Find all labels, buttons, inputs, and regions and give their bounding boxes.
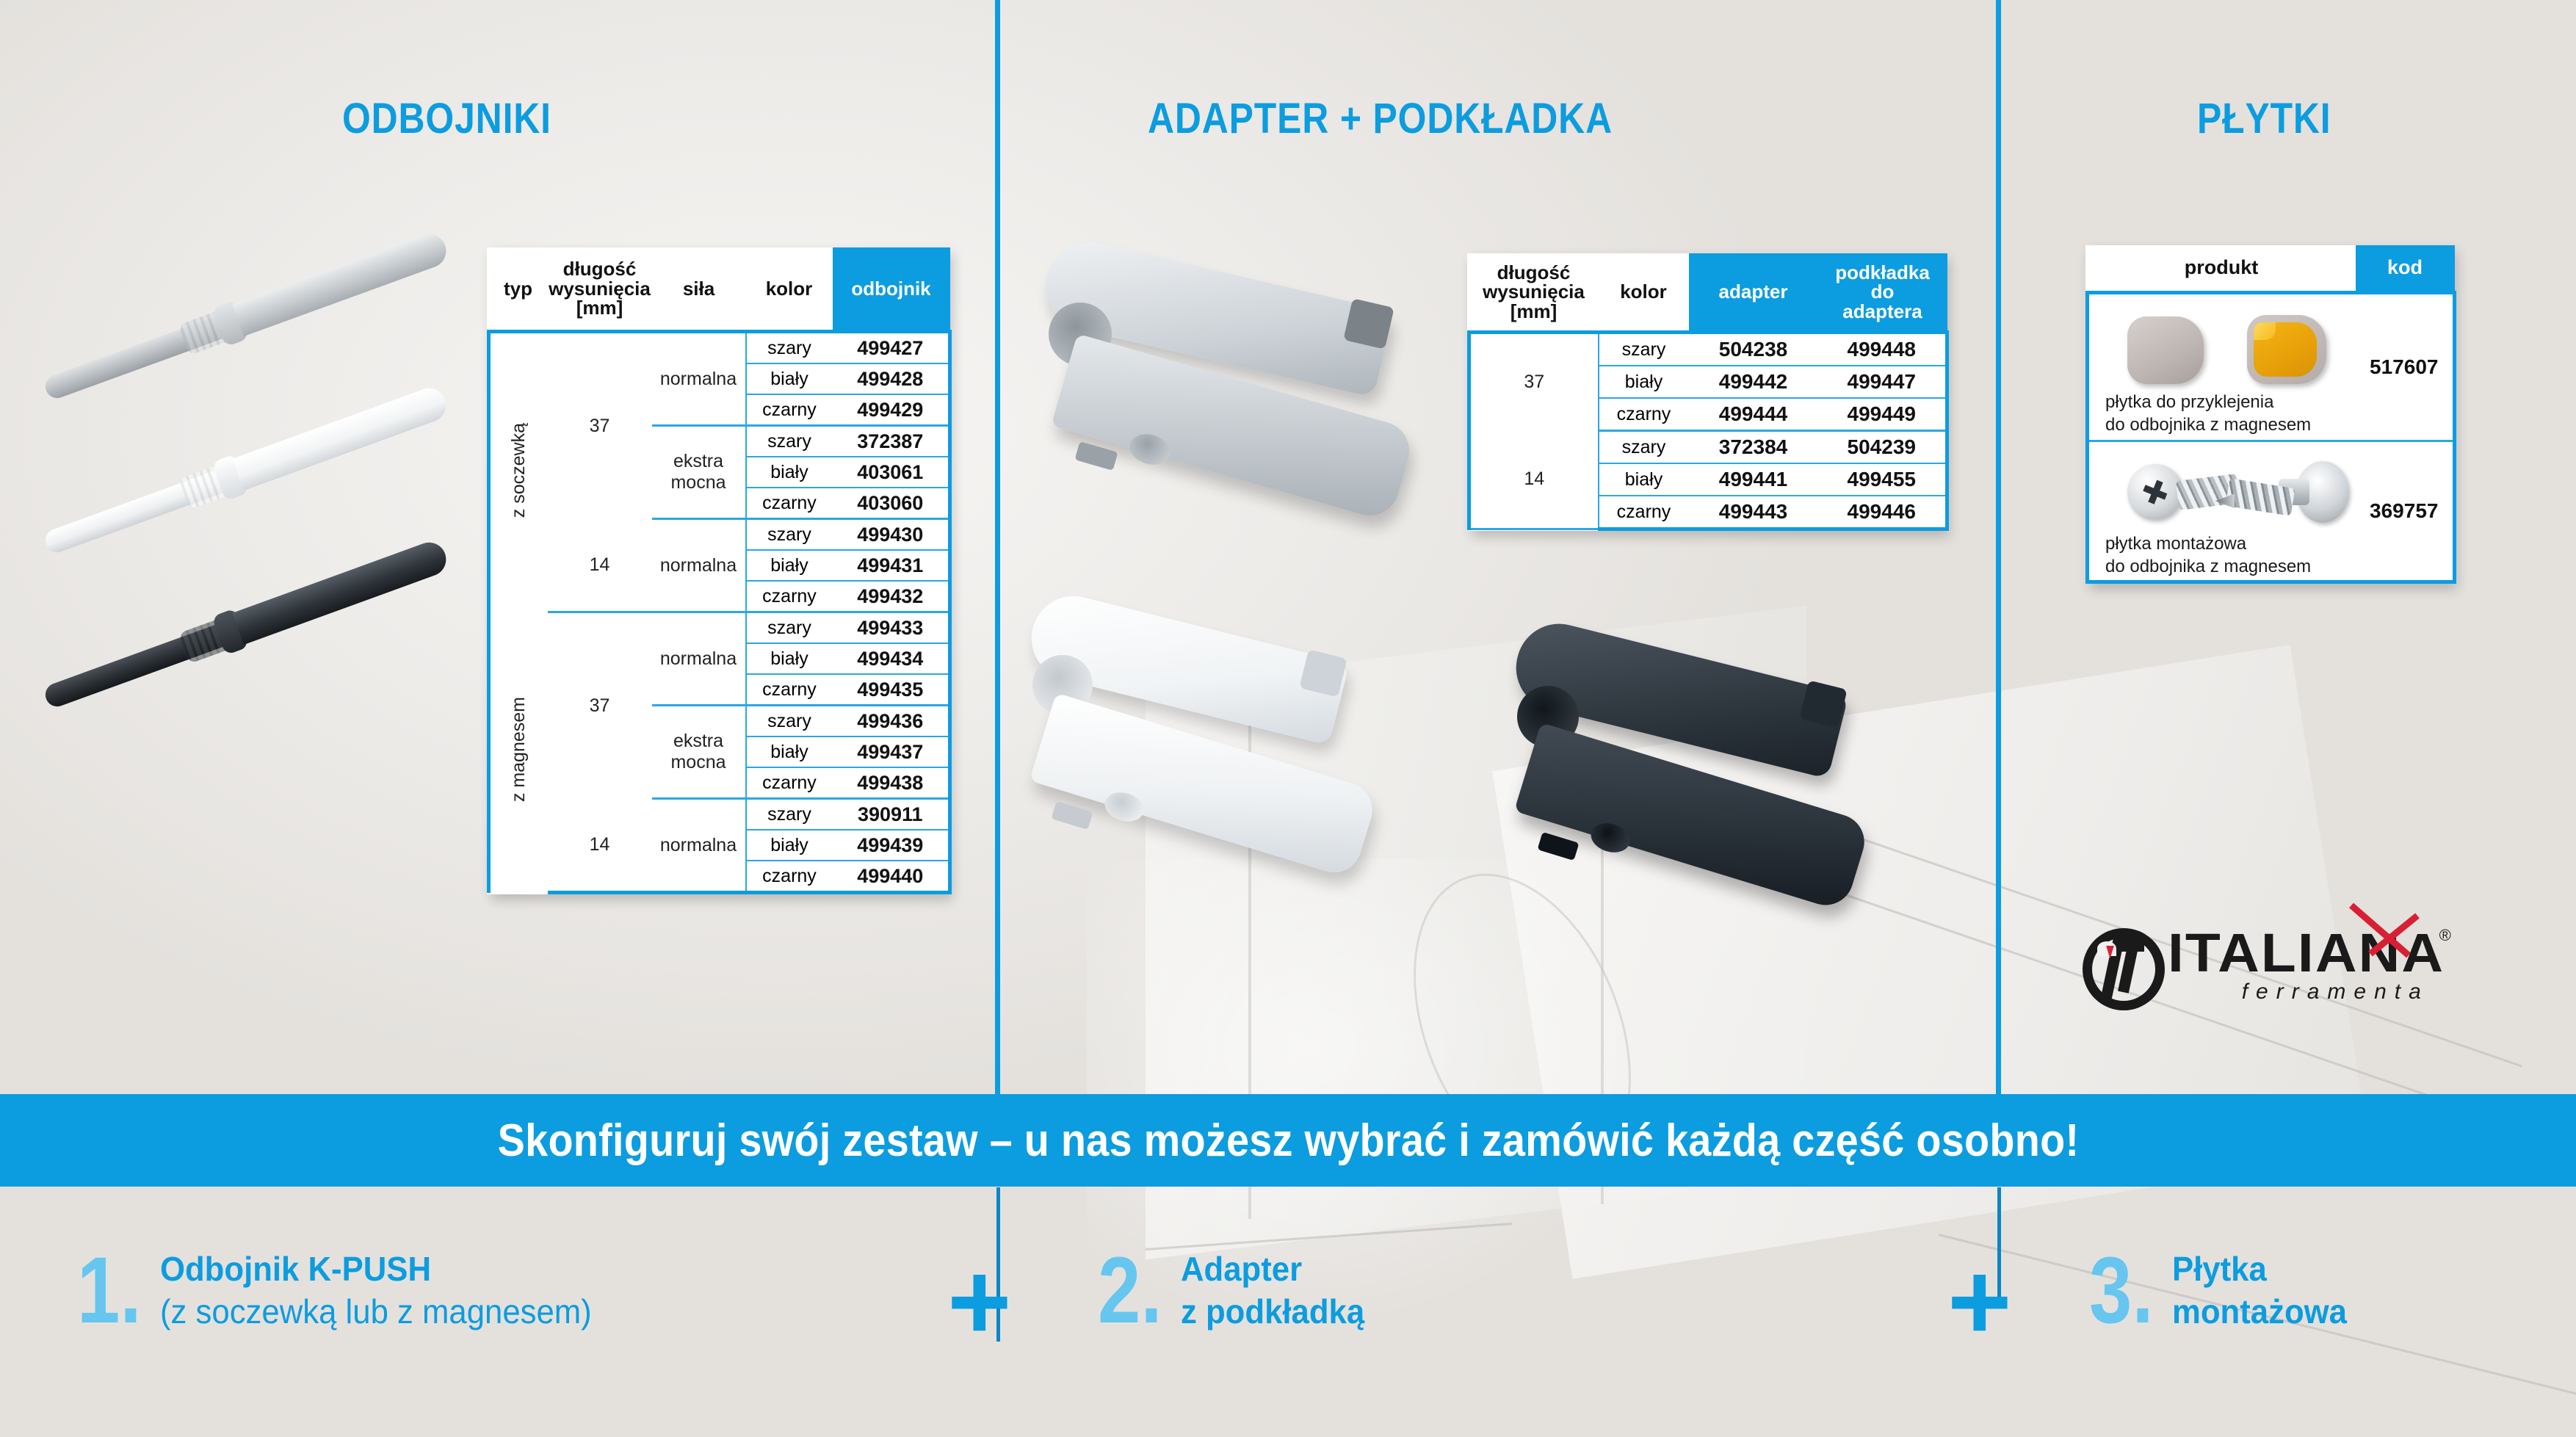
col-adapter: adapter [1689,253,1818,333]
cell-podkladka-kod: 499446 [1818,496,1947,529]
screws-desc-line2: do odbojnika z magnesem [2105,556,2356,579]
cell-kod: 390911 [833,799,950,830]
cell-kod: 499436 [833,706,950,737]
registered-mark: ® [2439,926,2451,945]
cell-kod: 499439 [833,830,950,861]
footer-plus-icon-1: + [947,1263,1012,1340]
step-line1: Odbojnik K-PUSH [160,1248,592,1291]
col-odbojnik: odbojnik [833,247,950,332]
col-dlugosc: długość wysunięcia [mm] [548,247,652,332]
cell-kod: 403060 [833,488,950,519]
force-normalna: normalna [652,519,746,612]
cta-banner-text: Skonfiguruj swój zestaw – u nas możesz w… [497,1115,2079,1167]
col-sila: siła [652,247,746,332]
cell-adapter-kod: 504238 [1689,333,1818,366]
table-row: z soczewką 37 normalna szary 499427 [489,332,950,364]
podkladka-slot-black [1537,832,1579,861]
col-produkt: produkt [2088,245,2356,293]
length-37: 37 [548,612,652,799]
mounting-screws-image [2096,451,2356,529]
table-adapter-card: długość wysunięcia [mm] kolor adapter po… [1467,253,1945,531]
plate-desc-line1: płytka do przyklejenia [2105,391,2356,414]
col-dlugosc-line2: wysunięcia [1469,282,1599,302]
step-text: Płytka montażowa [2172,1248,2356,1333]
cell-kod: 499437 [833,736,950,767]
step-line1: Płytka [2172,1248,2347,1291]
table-header-row: produkt kod [2088,245,2455,293]
odbojnik-product-photo-group [15,264,470,837]
group-type-magnes: z magnesem [489,612,548,893]
cell-kolor: szary [1599,333,1689,366]
adapter-photo-grey [1013,257,1469,602]
col-dlugosc-line1: długość [548,259,652,279]
cell-kolor: szary [746,799,833,830]
cell-kod: 499435 [833,674,950,706]
table-row: z magnesem 37 normalna szary 499433 [489,612,950,644]
step-line2: (z soczewką lub z magnesem) [160,1291,592,1333]
cell-kolor: szary [746,519,833,551]
adapter-photo-black [1483,646,1939,1028]
cell-podkladka-kod: 499447 [1818,366,1947,398]
cell-kolor: biały [746,736,833,767]
col-podkladka-line2: do [1818,282,1947,302]
cell-kod: 499440 [833,861,950,893]
force-ekstra-mocna: ekstra mocna [652,426,746,519]
cell-kolor: czarny [1599,398,1689,431]
table-odbojniki: typ długość wysunięcia [mm] siła kolor o… [487,247,952,894]
logo-wordmark-wrap: ITALIANA ® ferramenta [2168,922,2429,1005]
cell-kod: 499433 [833,612,950,644]
cell-kod: 499427 [833,332,950,364]
cell-kolor: biały [746,363,833,394]
step-text: Adapter z podkładką [1181,1248,1374,1333]
cell-kolor: szary [1599,431,1689,464]
cell-kolor: czarny [746,488,833,519]
section-title-adapter: ADAPTER + PODKŁADKA [1148,94,1613,143]
cell-kod: 517607 [2356,293,2455,441]
podkladka-slot-grey [1074,441,1118,471]
cell-produkt-plate: płytka do przyklejenia do odbojnika z ma… [2088,293,2356,441]
cell-kolor: czarny [746,581,833,612]
force-normalna: normalna [652,799,746,893]
cell-kolor: szary [746,426,833,457]
screws-desc-line1: płytka montażowa [2105,533,2356,556]
force-line1: ekstra [652,451,745,472]
cell-kod: 499438 [833,767,950,799]
force-normalna: normalna [652,332,746,426]
cell-kolor: szary [746,612,833,644]
cell-kolor: biały [746,830,833,861]
cell-kod: 499434 [833,643,950,674]
col-typ: typ [489,247,548,332]
cell-kolor: biały [746,643,833,674]
footer-step-3: 3. Płytka montażowa [2089,1248,2356,1333]
adapter-photo-white [984,617,1439,999]
length-14: 14 [548,799,652,893]
if-monogram-icon [2078,925,2154,1002]
force-line1: ekstra [652,731,745,752]
cell-kolor: szary [746,332,833,364]
plate-desc-line2: do odbojnika z magnesem [2105,414,2356,437]
group-type-soczewka: z soczewką [489,332,548,612]
cell-kod: 499429 [833,394,950,426]
force-normalna: normalna [652,612,746,706]
screws-description: płytka montażowa do odbojnika z magnesem [2089,533,2356,578]
cell-kod: 403061 [833,457,950,488]
cell-podkladka-kod: 504239 [1818,431,1947,464]
cell-adapter-kod: 499441 [1689,463,1818,496]
col-kolor: kolor [746,247,833,332]
table-header-row: długość wysunięcia [mm] kolor adapter po… [1469,253,1947,333]
table-row: 14 szary 372384 504239 [1469,431,1947,464]
length-14: 14 [548,519,652,612]
length-37: 37 [1469,333,1599,431]
col-kod: kod [2356,245,2455,293]
step-line2: montażowa [2172,1291,2347,1333]
cell-kolor: szary [746,706,833,737]
italiana-ferramenta-logo: ITALIANA ® ferramenta [2078,922,2429,1005]
step-number: 3. [2089,1254,2154,1328]
cell-kolor: czarny [1599,496,1689,529]
table-row: płytka do przyklejenia do odbojnika z ma… [2088,293,2455,441]
table-plytki-card: produkt kod płytka do przyklejenia do od… [2085,245,2453,584]
plate-description: płytka do przyklejenia do odbojnika z ma… [2089,391,2356,436]
footer-step-1: 1. Odbojnik K-PUSH (z soczewką lub z mag… [77,1248,614,1333]
footer-plus-icon-2: + [1947,1263,2012,1340]
cell-kolor: biały [1599,366,1689,398]
col-podkladka: podkładka do adaptera [1818,253,1947,333]
footer-step-2: 2. Adapter z podkładką [1098,1248,1374,1333]
cell-adapter-kod: 499444 [1689,398,1818,431]
col-dlugosc-line2: wysunięcia [548,279,652,299]
monogram-white-dot [2097,941,2116,956]
section-divider-2 [1996,0,2001,1094]
logo-wordmark: ITALIANA [2168,922,2445,984]
cell-kolor: biały [746,550,833,581]
table-row: 37 szary 504238 499448 [1469,333,1947,366]
col-dlugosc-line3: [mm] [1469,302,1599,322]
table-row: 14 normalna szary 390911 [489,799,950,830]
cell-kolor: czarny [746,861,833,893]
cell-kod: 499428 [833,363,950,394]
cell-adapter-kod: 499442 [1689,366,1818,398]
table-adapter: długość wysunięcia [mm] kolor adapter po… [1467,253,1949,531]
col-podkladka-line3: adaptera [1818,302,1947,322]
cta-banner: Skonfiguruj swój zestaw – u nas możesz w… [0,1094,2576,1187]
cell-kod: 372387 [833,426,950,457]
section-title-plytki: PŁYTKI [2197,94,2331,143]
cell-produkt-screws: płytka montażowa do odbojnika z magnesem [2088,441,2356,582]
cell-adapter-kod: 499443 [1689,496,1818,529]
cell-kolor: czarny [746,394,833,426]
step-number: 2. [1098,1254,1162,1328]
step-line2: z podkładką [1181,1291,1364,1333]
cell-kod: 499430 [833,519,950,551]
col-dlugosc-line1: długość [1469,263,1599,283]
cell-kod: 369757 [2356,441,2455,582]
force-line2: mocna [652,472,745,493]
adhesive-plate-image [2096,305,2356,387]
col-podkladka-line1: podkładka [1818,263,1947,283]
cell-podkladka-kod: 499449 [1818,398,1947,431]
step-number: 1. [77,1254,142,1328]
cell-kolor: czarny [746,674,833,706]
step-line1: Adapter [1181,1248,1364,1291]
cell-podkladka-kod: 499448 [1818,333,1947,366]
adapter-cap-hook-grey [1343,298,1394,350]
section-title-odbojniki: ODBOJNIKI [342,94,551,143]
col-dlugosc: długość wysunięcia [mm] [1469,253,1599,333]
step-text: Odbojnik K-PUSH (z soczewką lub z magnes… [160,1248,615,1333]
table-row: 14 normalna szary 499430 [489,519,950,551]
cell-podkladka-kod: 499455 [1818,463,1947,496]
force-line2: mocna [652,752,745,773]
cell-kolor: czarny [746,767,833,799]
cell-kolor: biały [1599,463,1689,496]
cell-kod: 499431 [833,550,950,581]
table-plytki: produkt kod płytka do przyklejenia do od… [2085,245,2456,584]
col-dlugosc-line3: [mm] [548,298,652,318]
cell-kolor: biały [746,457,833,488]
monogram-flag [2119,935,2144,952]
cell-kod: 499432 [833,581,950,612]
table-odbojniki-card: typ długość wysunięcia [mm] siła kolor o… [487,247,948,894]
cell-adapter-kod: 372384 [1689,431,1818,464]
table-header-row: typ długość wysunięcia [mm] siła kolor o… [489,247,950,332]
plate-plain-shape [2127,316,2204,384]
col-kolor: kolor [1599,253,1689,333]
length-37: 37 [548,332,652,519]
length-14: 14 [1469,431,1599,529]
podkladka-slot-white [1051,801,1093,830]
force-ekstra-mocna: ekstra mocna [652,706,746,799]
table-row: płytka montażowa do odbojnika z magnesem… [2088,441,2455,582]
